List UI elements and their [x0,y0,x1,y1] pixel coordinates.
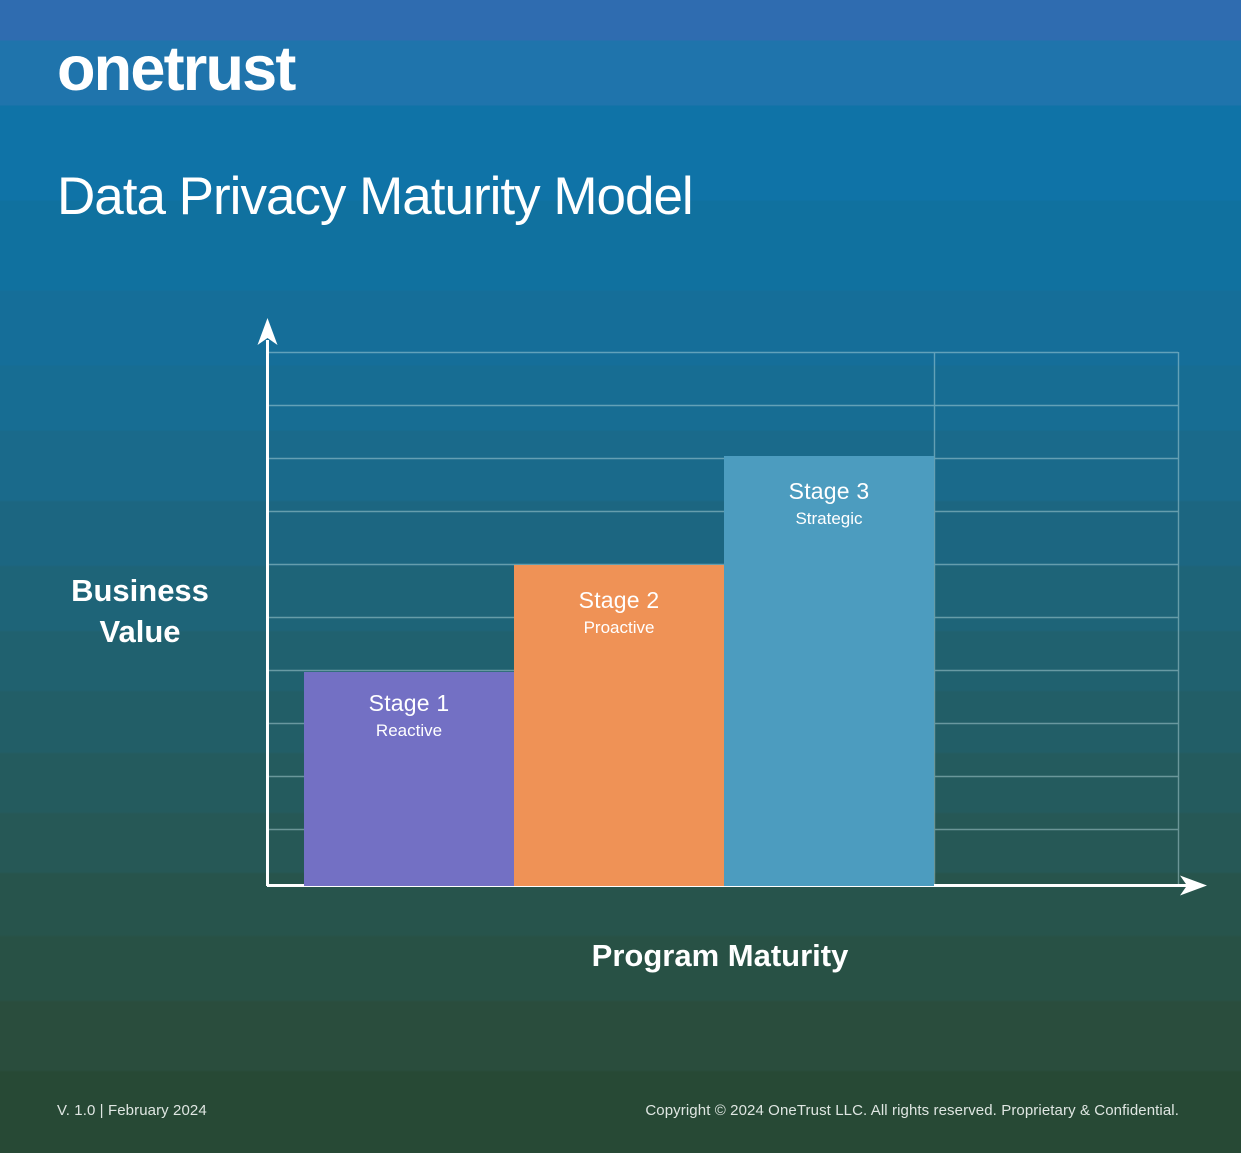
bar-stage-1-title: Stage 1 [304,690,514,717]
bar-stage-2-sublabel: Proactive [514,618,724,638]
y-axis-label-line-2: Value [100,614,181,649]
y-axis-label: BusinessValue [30,570,250,652]
version-text: V. 1.0 | February 2024 [57,1102,207,1119]
bar-stage-1-sublabel: Reactive [304,721,514,741]
x-axis-label: Program Maturity [430,938,1010,974]
bar-stage-3[interactable]: Stage 3 Strategic [724,456,934,886]
copyright-text: Copyright © 2024 OneTrust LLC. All right… [645,1102,1179,1119]
bar-stage-1-labels: Stage 1 Reactive [304,690,514,741]
bar-stage-1[interactable]: Stage 1 Reactive [304,672,514,886]
bar-stage-3-sublabel: Strategic [724,509,934,529]
bar-stage-3-title: Stage 3 [724,478,934,505]
bar-stage-2-title: Stage 2 [514,587,724,614]
slide-canvas: onetrust Data Privacy Maturity Model [0,0,1241,1153]
bar-stage-3-labels: Stage 3 Strategic [724,478,934,529]
y-axis-label-line-1: Business [71,573,209,608]
bar-stage-2[interactable]: Stage 2 Proactive [514,565,724,886]
bar-stage-2-labels: Stage 2 Proactive [514,587,724,638]
